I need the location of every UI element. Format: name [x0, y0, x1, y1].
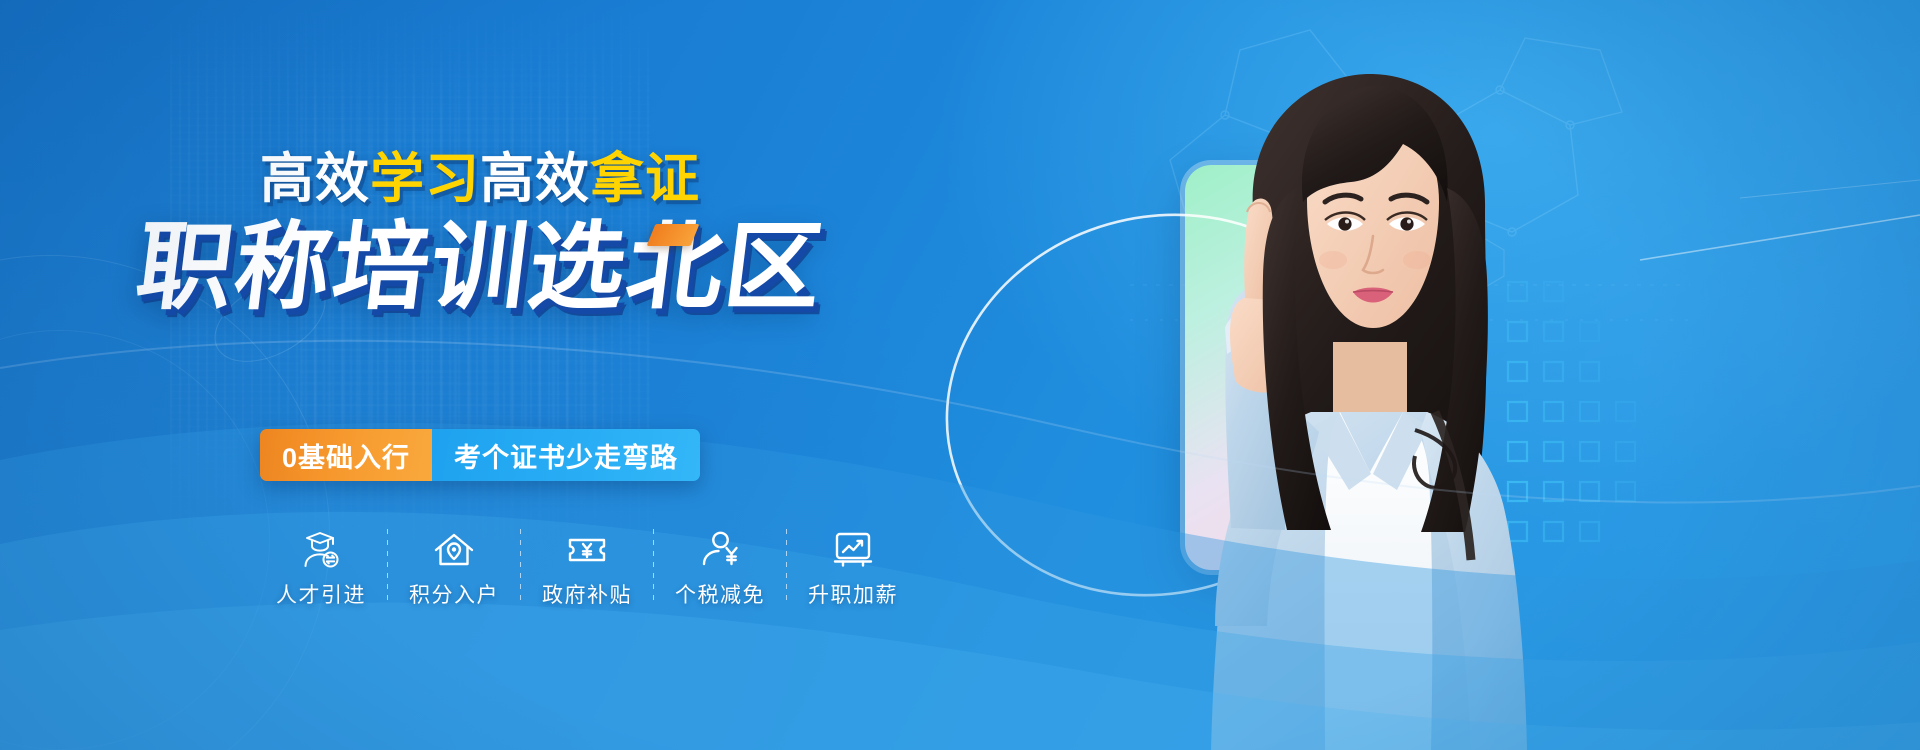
promo-banner: 高效学习高效拿证 职称培训选北区 0基础入行 考个证书少走弯路: [0, 0, 1920, 750]
edge-vignette: [0, 0, 1920, 750]
